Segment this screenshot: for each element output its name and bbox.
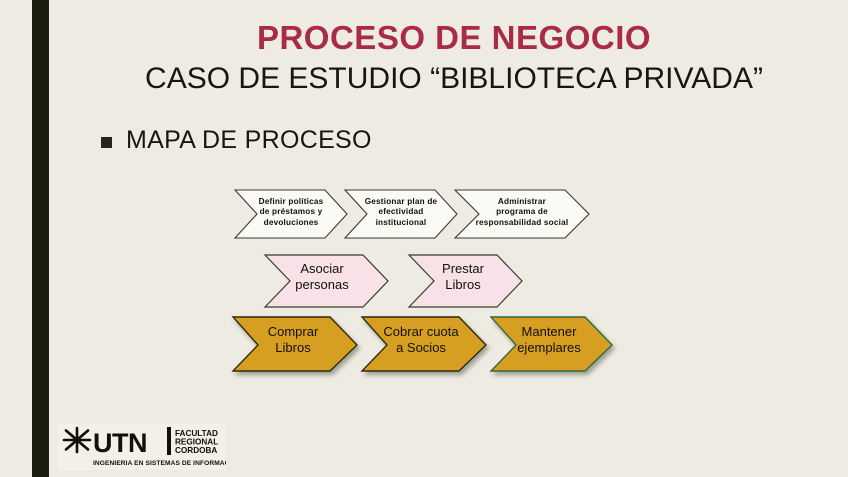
page-subtitle: CASO DE ESTUDIO “BIBLIOTECA PRIVADA”	[60, 62, 848, 95]
section-heading: MAPA DE PROCESO	[101, 126, 372, 155]
process-chevron-administrar-programa[interactable]	[455, 190, 589, 238]
logo-line-3: CORDOBA	[175, 446, 217, 455]
process-row-strategic	[235, 190, 589, 238]
logo-tagline: INGENIERIA EN SISTEMAS DE INFORMACION	[93, 460, 226, 467]
process-chevron-definir-politicas[interactable]	[235, 190, 347, 238]
process-row-support	[233, 317, 612, 371]
logo-acronym: UTN	[93, 428, 147, 458]
process-chevron-mantener-ejemplares[interactable]	[491, 317, 612, 371]
square-bullet-icon	[101, 137, 112, 148]
logo-artwork: UTN FACULTAD REGIONAL CORDOBA INGENIERIA…	[58, 424, 226, 470]
process-chevron-cobrar-cuota[interactable]	[362, 317, 486, 371]
left-accent-bar	[32, 0, 49, 477]
slide-canvas: PROCESO DE NEGOCIO CASO DE ESTUDIO “BIBL…	[0, 0, 848, 477]
section-heading-label: MAPA DE PROCESO	[126, 126, 372, 155]
logo-divider	[167, 427, 171, 455]
process-chevron-comprar-libros[interactable]	[233, 317, 357, 371]
process-chevron-gestionar-plan[interactable]	[345, 190, 457, 238]
process-chevron-asociar-personas[interactable]	[265, 255, 388, 307]
utn-logo: UTN FACULTAD REGIONAL CORDOBA INGENIERIA…	[58, 424, 226, 470]
page-title: PROCESO DE NEGOCIO	[60, 20, 848, 56]
process-row-core	[265, 255, 522, 307]
process-chevron-prestar-libros[interactable]	[409, 255, 522, 307]
